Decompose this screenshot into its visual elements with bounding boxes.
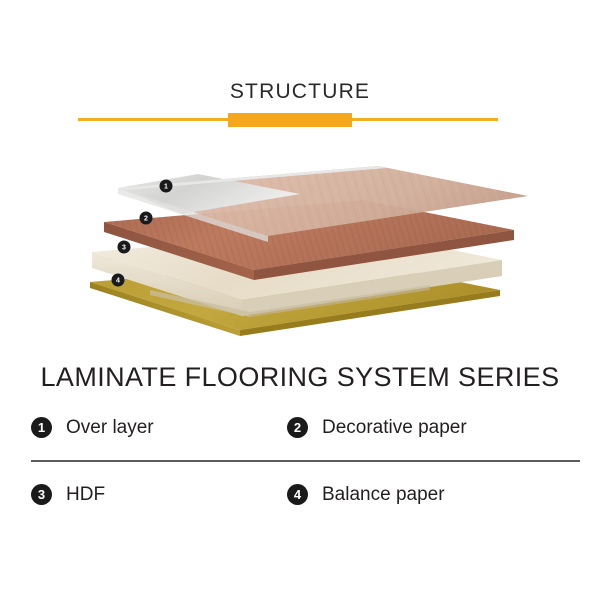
diagram-badge-3-number: 3 [122, 245, 126, 252]
legend-badge-4: 4 [287, 484, 308, 505]
legend-item-decorative-paper: 2 Decorative paper [287, 417, 600, 439]
diagram-badge-1: 1 [160, 180, 173, 193]
page-title: LAMINATE FLOORING SYSTEM SERIES [0, 360, 600, 394]
diagram-badge-2: 2 [140, 212, 153, 225]
laminate-layers-diagram: 1 2 3 4 [0, 130, 600, 350]
legend-badge-1: 1 [31, 417, 52, 438]
legend-list: 1 Over layer 2 Decorative paper 3 HDF 4 … [0, 405, 600, 517]
diagram-badge-1-number: 1 [164, 184, 168, 191]
legend-label-4: Balance paper [322, 484, 445, 506]
heading-rule [78, 113, 498, 127]
legend-item-balance-paper: 4 Balance paper [287, 484, 600, 506]
legend-badge-3: 3 [31, 484, 52, 505]
legend-item-over-layer: 1 Over layer [0, 417, 287, 439]
section-heading: STRUCTURE [0, 79, 600, 105]
legend-row: 1 Over layer 2 Decorative paper [0, 405, 600, 450]
heading-rule-accent-block [228, 113, 352, 127]
legend-label-1: Over layer [66, 417, 154, 439]
diagram-badge-4: 4 [112, 274, 125, 287]
diagram-badge-3: 3 [118, 241, 131, 254]
diagram-badge-2-number: 2 [144, 216, 148, 223]
diagram-badge-4-number: 4 [116, 278, 120, 285]
legend-item-hdf: 3 HDF [0, 484, 287, 506]
legend-label-2: Decorative paper [322, 417, 467, 439]
legend-divider [31, 460, 580, 462]
legend-label-3: HDF [66, 484, 105, 506]
page-root: STRUCTURE [0, 0, 600, 600]
legend-row: 3 HDF 4 Balance paper [0, 472, 600, 517]
legend-badge-2: 2 [287, 417, 308, 438]
